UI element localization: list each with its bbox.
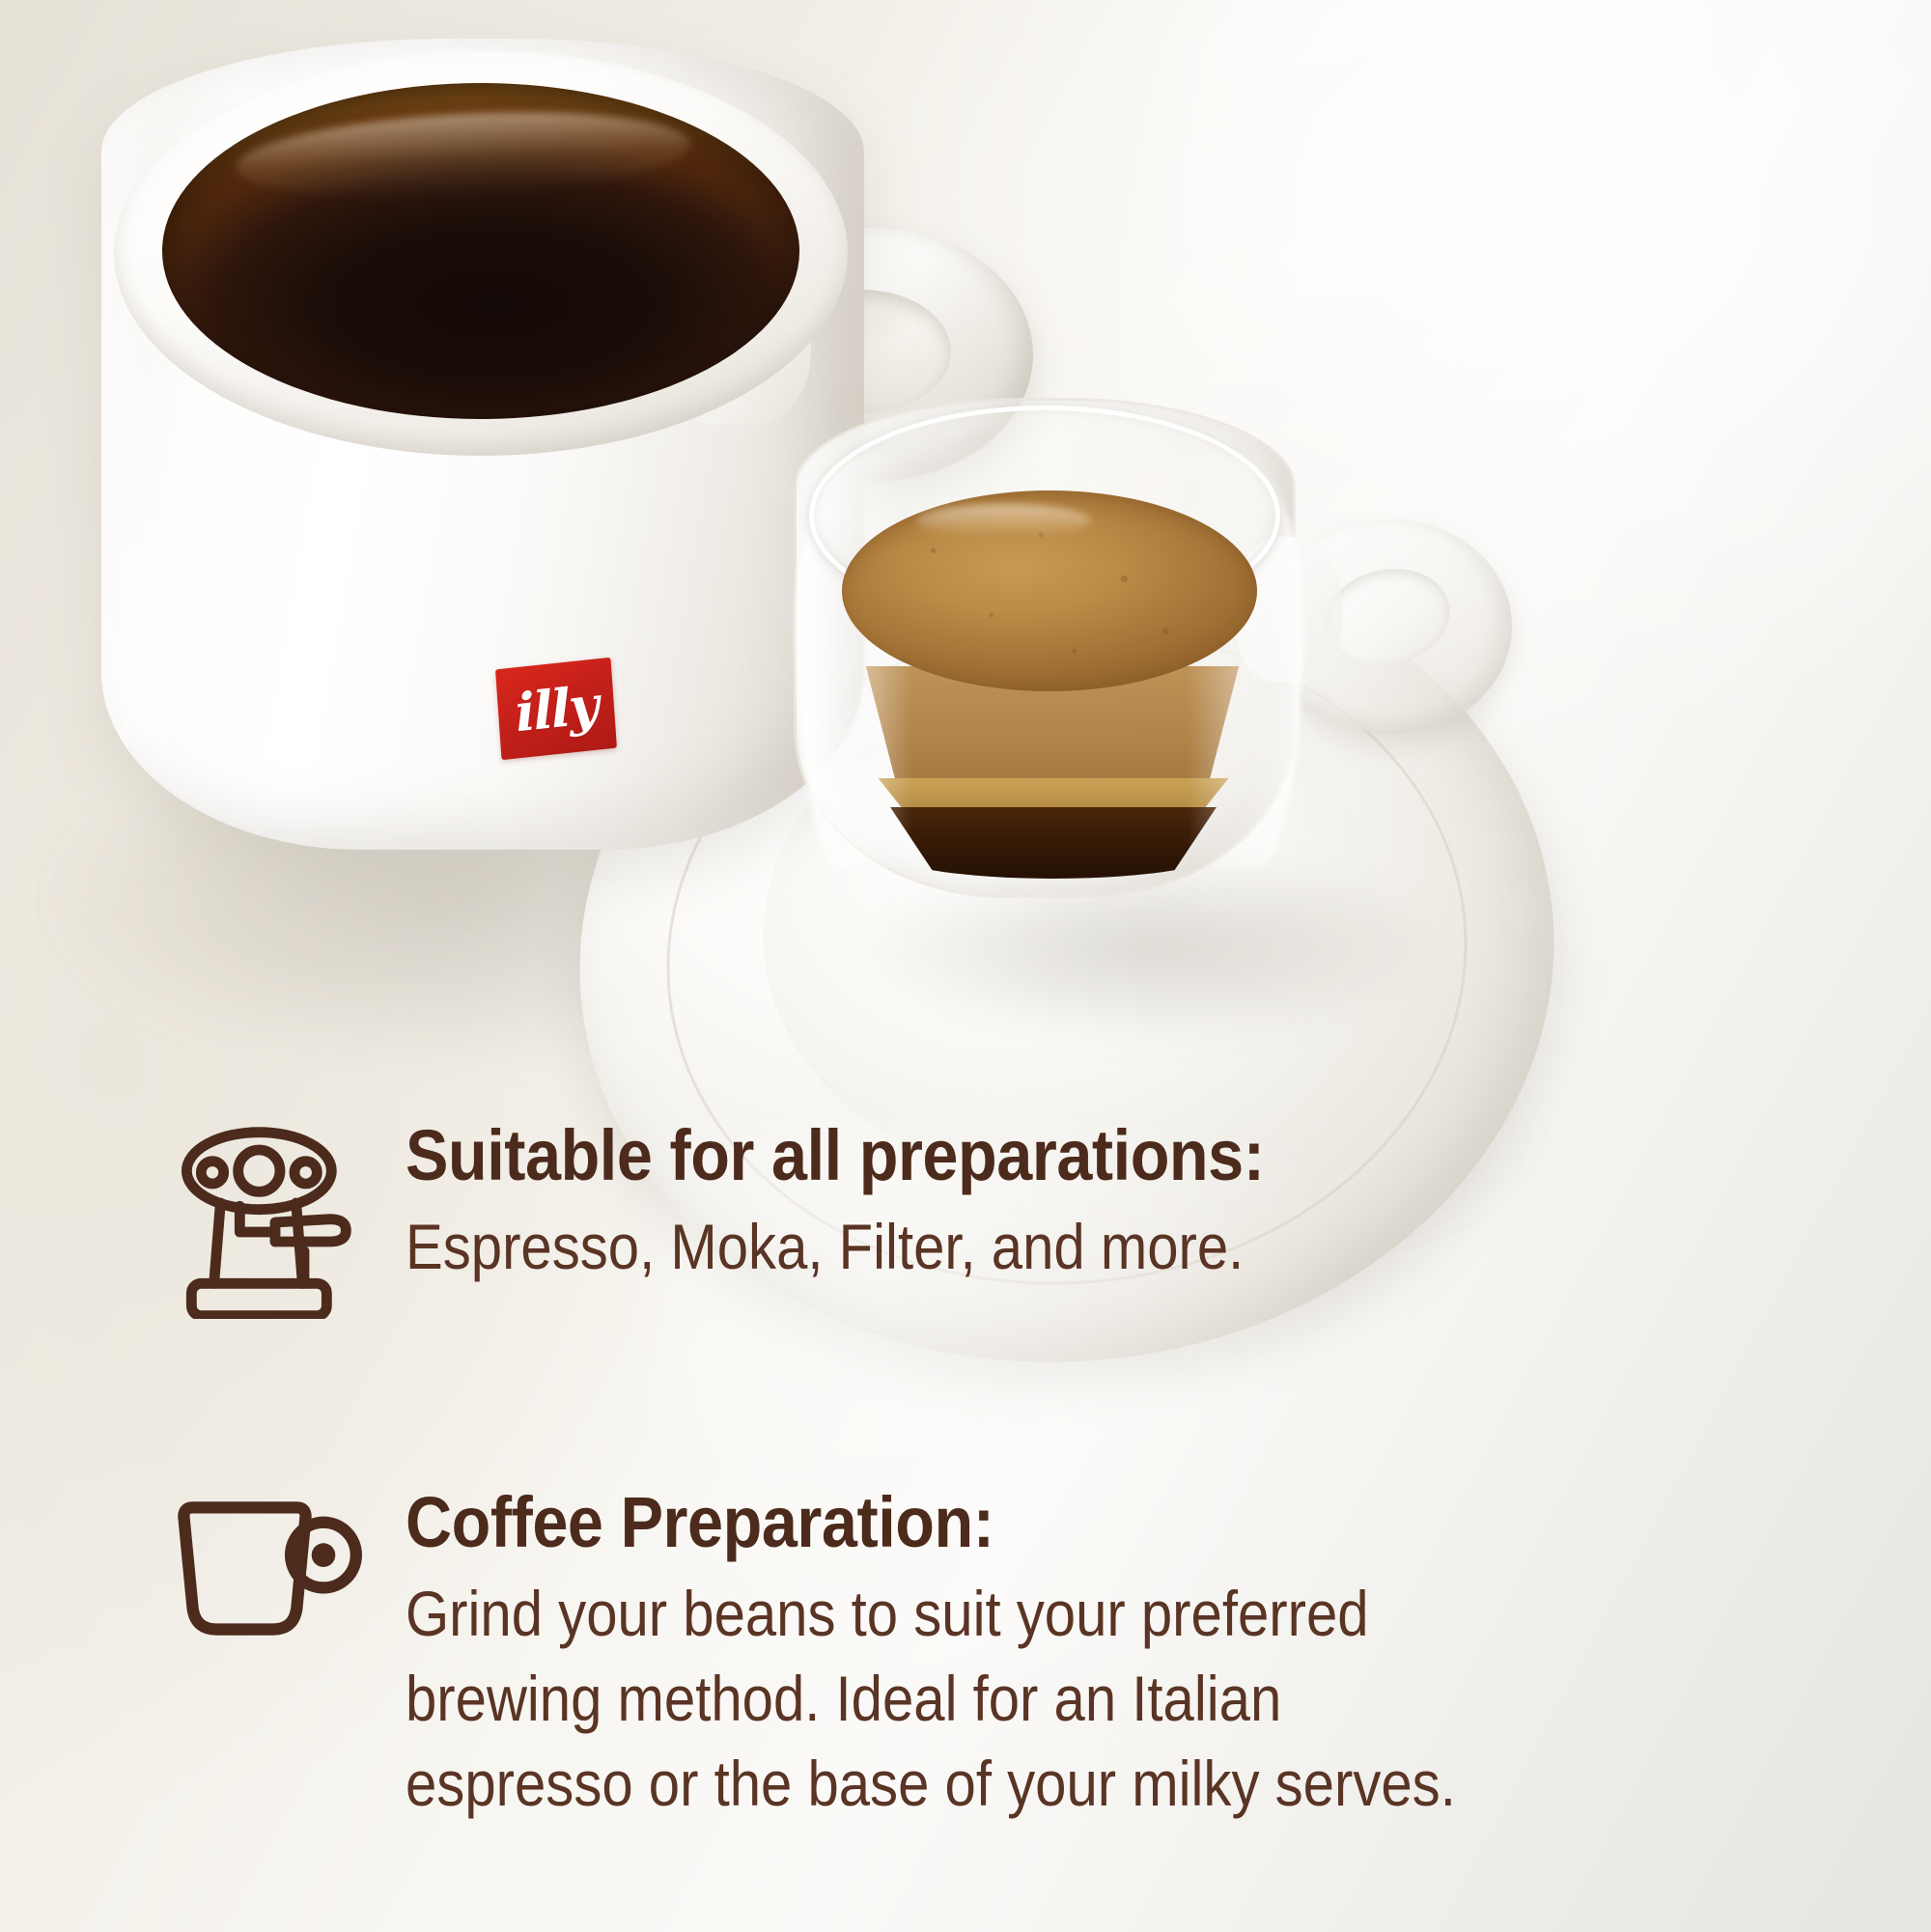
crema-highlight <box>917 504 1091 537</box>
product-info-card: illy <box>0 0 1931 1932</box>
espresso-dark-layer <box>883 807 1223 879</box>
feature-item-preparations: Suitable for all preparations: Espresso,… <box>169 1120 1359 1319</box>
feature-list: Suitable for all preparations: Espresso,… <box>0 1101 1931 1931</box>
feature-body: Espresso, Moka, Filter, and more. <box>406 1205 1245 1290</box>
espresso-machine-icon <box>169 1120 377 1319</box>
espresso-light-band <box>867 778 1240 811</box>
feature-item-coffee-preparation: Coffee Preparation: Grind your beans to … <box>169 1487 1599 1826</box>
coffee-cup-icon <box>169 1487 377 1647</box>
feature-body: Grind your beans to suit your preferred … <box>406 1572 1456 1826</box>
illy-logo-text: illy <box>514 679 599 740</box>
illy-logo: illy <box>495 658 617 760</box>
feature-text-preparations: Suitable for all preparations: Espresso,… <box>377 1120 1359 1290</box>
feature-title: Suitable for all preparations: <box>406 1120 1264 1191</box>
feature-text-coffee-preparation: Coffee Preparation: Grind your beans to … <box>377 1487 1599 1826</box>
feature-title: Coffee Preparation: <box>406 1487 1480 1558</box>
